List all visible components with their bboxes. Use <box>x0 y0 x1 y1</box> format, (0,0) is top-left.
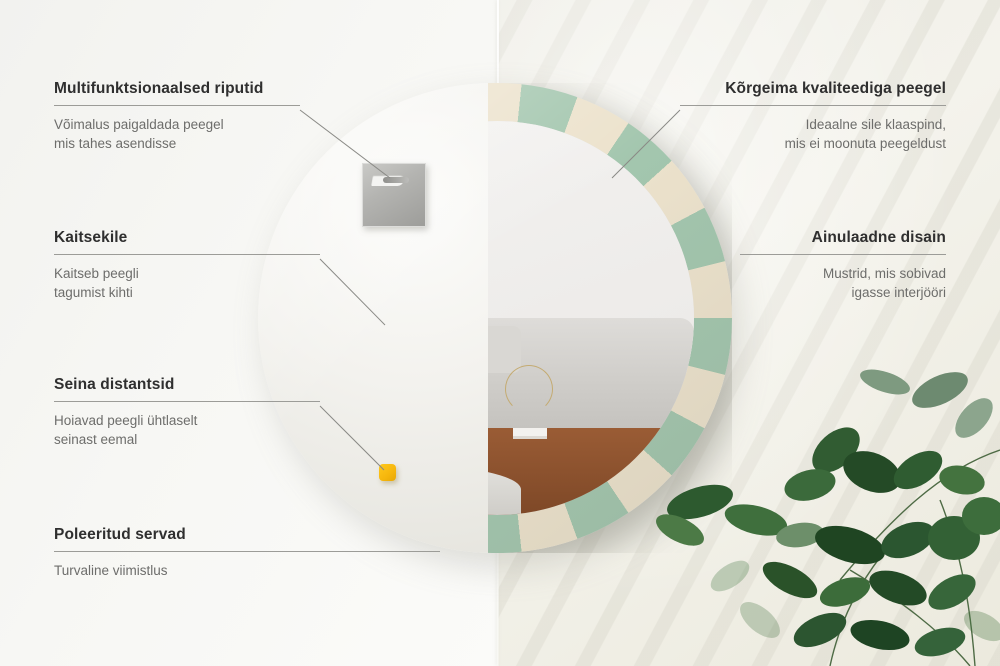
reflected-wall <box>488 121 694 373</box>
desc-line-1: Turvaline viimistlus <box>54 563 168 578</box>
desc-line-1: Võimalus paigaldada peegel <box>54 117 224 132</box>
callout-title: Seina distantsid <box>54 376 320 394</box>
hanger-bar-icon <box>383 177 409 183</box>
reflected-side-table <box>505 365 553 413</box>
callout-title: Poleeritud servad <box>54 526 440 544</box>
desc-line-1: Hoiavad peegli ühtlaselt <box>54 413 197 428</box>
callout-rule <box>54 105 300 106</box>
desc-line-1: Kaitseb peegli <box>54 266 139 281</box>
desc-line-2: igasse interjööri <box>851 285 946 300</box>
reflected-sofa <box>488 318 694 436</box>
callout-unique-design: Ainulaadne disain Mustrid, mis sobivad i… <box>740 229 946 302</box>
callout-rule <box>680 105 946 106</box>
callout-rule <box>740 254 946 255</box>
desc-line-2: seinast eemal <box>54 432 137 447</box>
desc-line-2: tagumist kihti <box>54 285 133 300</box>
callout-title: Ainulaadne disain <box>740 229 946 247</box>
callout-rule <box>54 254 320 255</box>
infographic-canvas: Multifunktsionaalsed riputid Võimalus pa… <box>0 0 1000 666</box>
mirror-glass <box>488 121 694 515</box>
callout-title: Kõrgeima kvaliteediga peegel <box>680 80 946 98</box>
callout-wall-spacers: Seina distantsid Hoiavad peegli ühtlasel… <box>54 376 320 449</box>
reflected-books <box>513 428 547 436</box>
reflected-cushion <box>488 326 521 373</box>
callout-multifunctional-hangers: Multifunktsionaalsed riputid Võimalus pa… <box>54 80 300 153</box>
reflected-floor <box>488 428 694 515</box>
callout-rule <box>54 551 440 552</box>
callout-description: Ideaalne sile klaaspind, mis ei moonuta … <box>680 115 946 153</box>
callout-polished-edges: Poleeritud servad Turvaline viimistlus <box>54 526 440 580</box>
desc-line-2: mis tahes asendisse <box>54 136 176 151</box>
callout-highest-quality-mirror: Kõrgeima kvaliteediga peegel Ideaalne si… <box>680 80 946 153</box>
wall-spacer-icon <box>379 464 396 481</box>
callout-description: Võimalus paigaldada peegel mis tahes ase… <box>54 115 300 153</box>
callout-rule <box>54 401 320 402</box>
desc-line-1: Mustrid, mis sobivad <box>823 266 946 281</box>
callout-description: Kaitseb peegli tagumist kihti <box>54 264 320 302</box>
callout-description: Turvaline viimistlus <box>54 561 440 580</box>
callout-title: Multifunktsionaalsed riputid <box>54 80 300 98</box>
desc-line-1: Ideaalne sile klaaspind, <box>806 117 946 132</box>
callout-protective-film: Kaitsekile Kaitseb peegli tagumist kihti <box>54 229 320 302</box>
mirror-front-photo <box>488 83 732 553</box>
callout-description: Hoiavad peegli ühtlaselt seinast eemal <box>54 411 320 449</box>
reflected-rug <box>488 464 521 515</box>
hanger-plate-icon <box>362 163 426 227</box>
callout-title: Kaitsekile <box>54 229 320 247</box>
desc-line-2: mis ei moonuta peegeldust <box>785 136 946 151</box>
callout-description: Mustrid, mis sobivad igasse interjööri <box>740 264 946 302</box>
